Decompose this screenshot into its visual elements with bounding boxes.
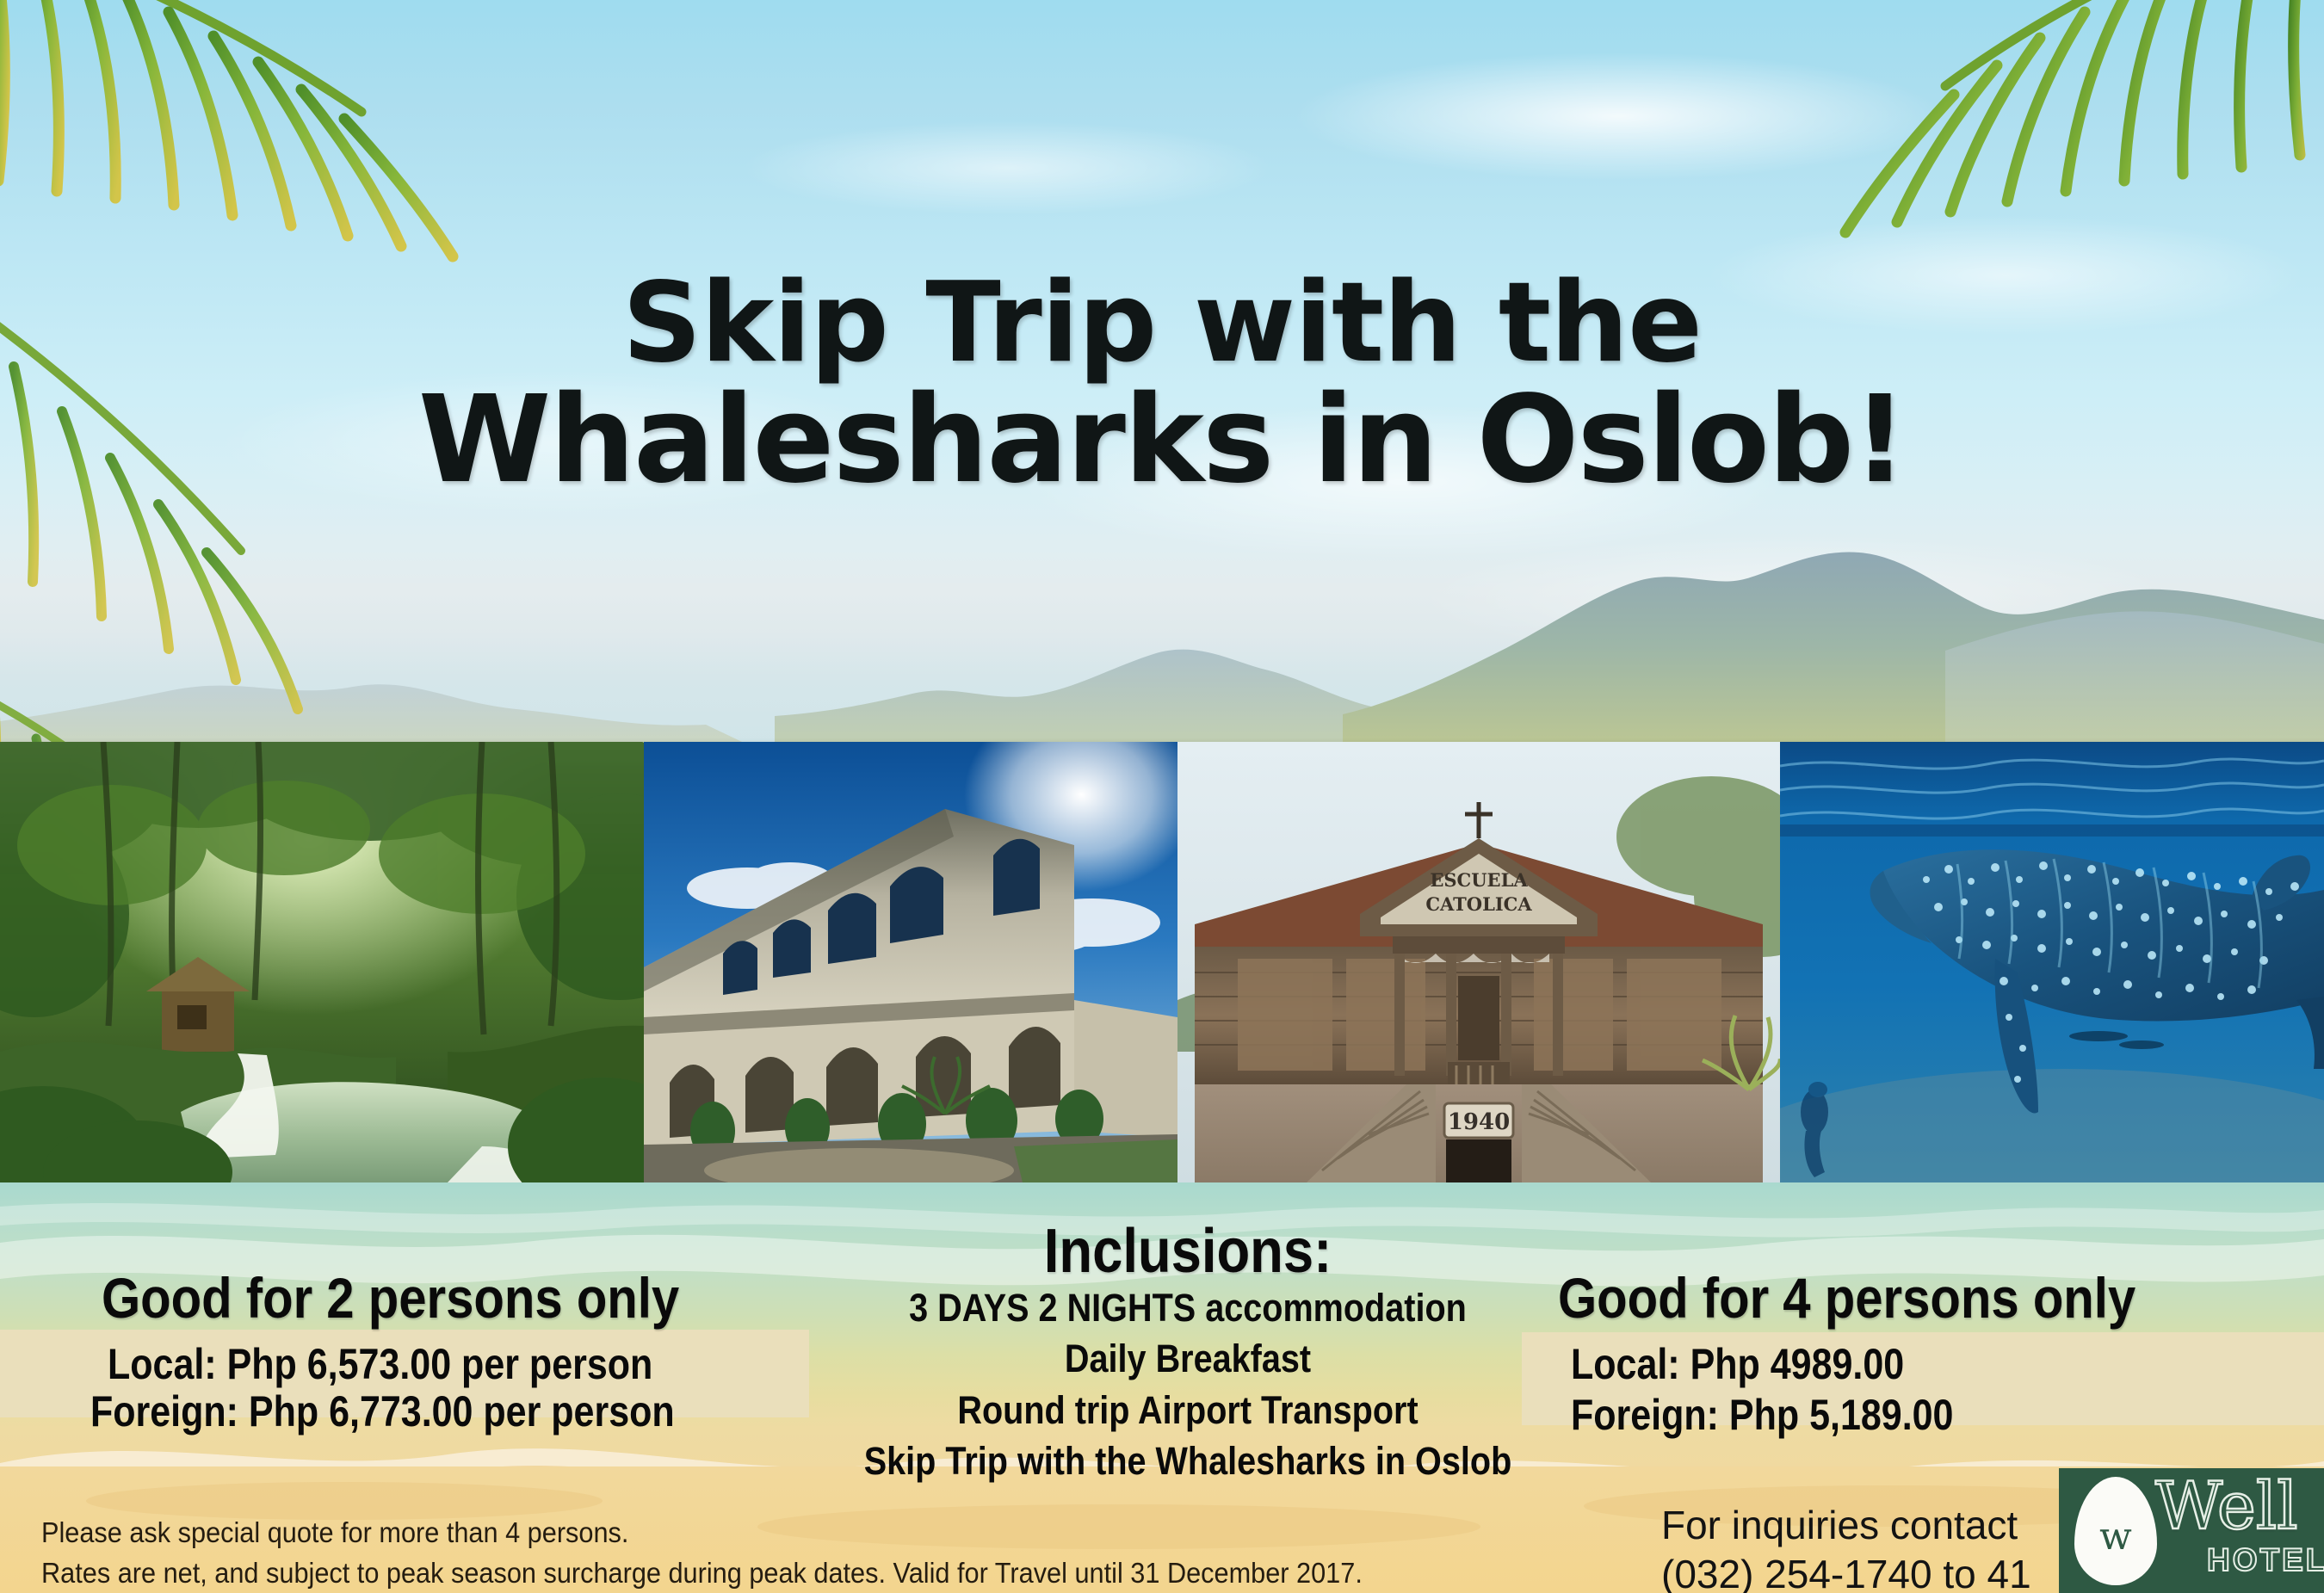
whaleshark-photo	[1780, 742, 2324, 1182]
escuela-catolica-photo: ESCUELA CATOLICA	[1177, 742, 1780, 1182]
offer-right-foreign-price: Foreign: Php 5,189.00	[1571, 1390, 1953, 1440]
well-hotel-logo: Well HOTEL	[2059, 1468, 2324, 1593]
contact-label: For inquiries contact	[1661, 1501, 2031, 1550]
page-title: Skip Trip with the Whalesharks in Oslob!	[0, 155, 2324, 614]
headline-line-1: Skip Trip with the	[622, 259, 1702, 387]
contact-phone[interactable]: (032) 254-1740 to 41	[1661, 1550, 2031, 1593]
escuela-year-plaque: 1940	[1448, 1109, 1510, 1135]
photo-strip: ESCUELA CATOLICA	[0, 742, 2324, 1182]
contact-block: For inquiries contact (032) 254-1740 to …	[1661, 1501, 2031, 1593]
inclusions-block: Inclusions: 3 DAYS 2 NIGHTS accommodatio…	[775, 1220, 1601, 1487]
logo-brand-text: Well	[2155, 1473, 2298, 1539]
poster-canvas: Skip Trip with the Whalesharks in Oslob!	[0, 0, 2324, 1593]
inclusion-item: Round trip Airport Transport	[825, 1385, 1552, 1436]
escuela-sign-line1: ESCUELA	[1430, 869, 1528, 891]
inclusion-item: 3 DAYS 2 NIGHTS accommodation	[825, 1282, 1552, 1333]
offer-left-heading: Good for 2 persons only	[102, 1265, 679, 1331]
offer-right-local-price: Local: Php 4989.00	[1571, 1339, 1904, 1389]
escuela-sign-line2: CATOLICA	[1425, 893, 1532, 915]
offer-left-foreign-price: Foreign: Php 6,773.00 per person	[90, 1386, 675, 1436]
inclusion-item: Skip Trip with the Whalesharks in Oslob	[825, 1436, 1552, 1486]
cuartel-ruins-photo	[644, 742, 1177, 1182]
disclaimer-line-1: Please ask special quote for more than 4…	[41, 1513, 1419, 1553]
tumalog-falls-photo	[0, 742, 644, 1182]
well-drop-icon	[2074, 1477, 2157, 1585]
inclusion-item: Daily Breakfast	[825, 1333, 1552, 1384]
disclaimer-block: Please ask special quote for more than 4…	[41, 1513, 1522, 1593]
headline-line-2: Whalesharks in Oslob!	[0, 380, 2324, 503]
disclaimer-line-2: Rates are net, and subject to peak seaso…	[41, 1553, 1419, 1593]
inclusions-title: Inclusions:	[825, 1220, 1552, 1282]
logo-sub-text: HOTEL	[2207, 1542, 2324, 1578]
offer-right-heading: Good for 4 persons only	[1558, 1265, 2135, 1331]
offer-left-local-price: Local: Php 6,573.00 per person	[108, 1339, 652, 1389]
